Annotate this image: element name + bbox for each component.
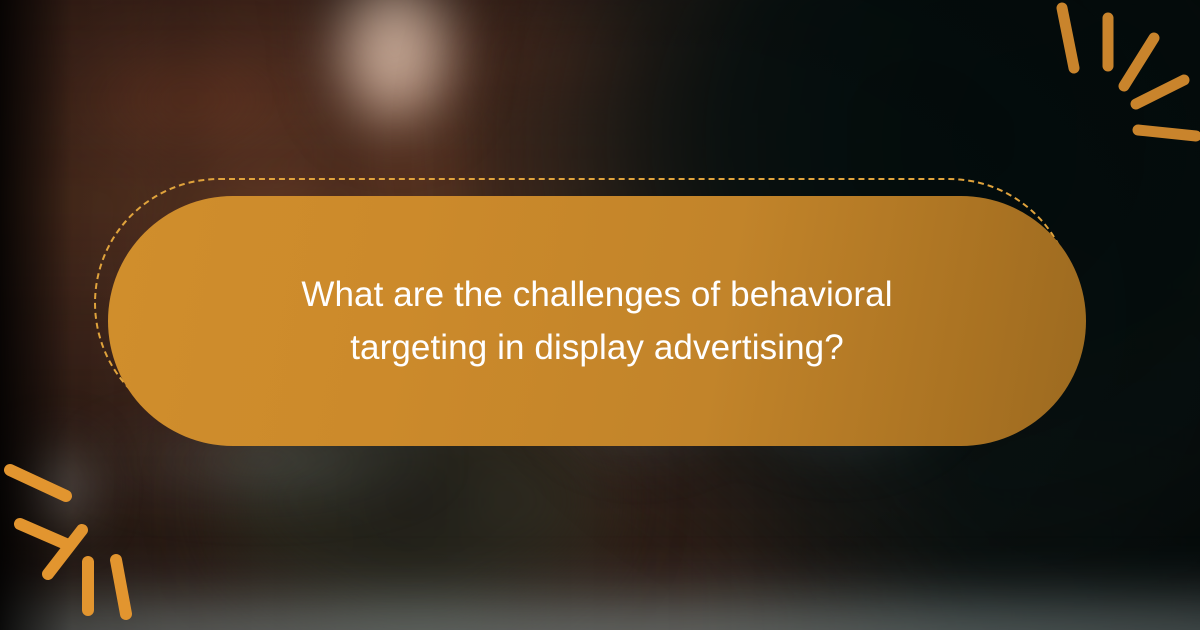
question-line-1: What are the challenges of behavioral	[301, 275, 892, 314]
question-text: What are the challenges of behavioraltar…	[261, 268, 932, 374]
question-line-2: targeting in display advertising?	[350, 328, 844, 367]
question-card-image: What are the challenges of behavioraltar…	[0, 0, 1200, 630]
sunburst-top-right-icon	[1032, 0, 1200, 160]
question-card: What are the challenges of behavioraltar…	[108, 196, 1086, 446]
sunburst-bottom-left-icon	[4, 462, 184, 630]
